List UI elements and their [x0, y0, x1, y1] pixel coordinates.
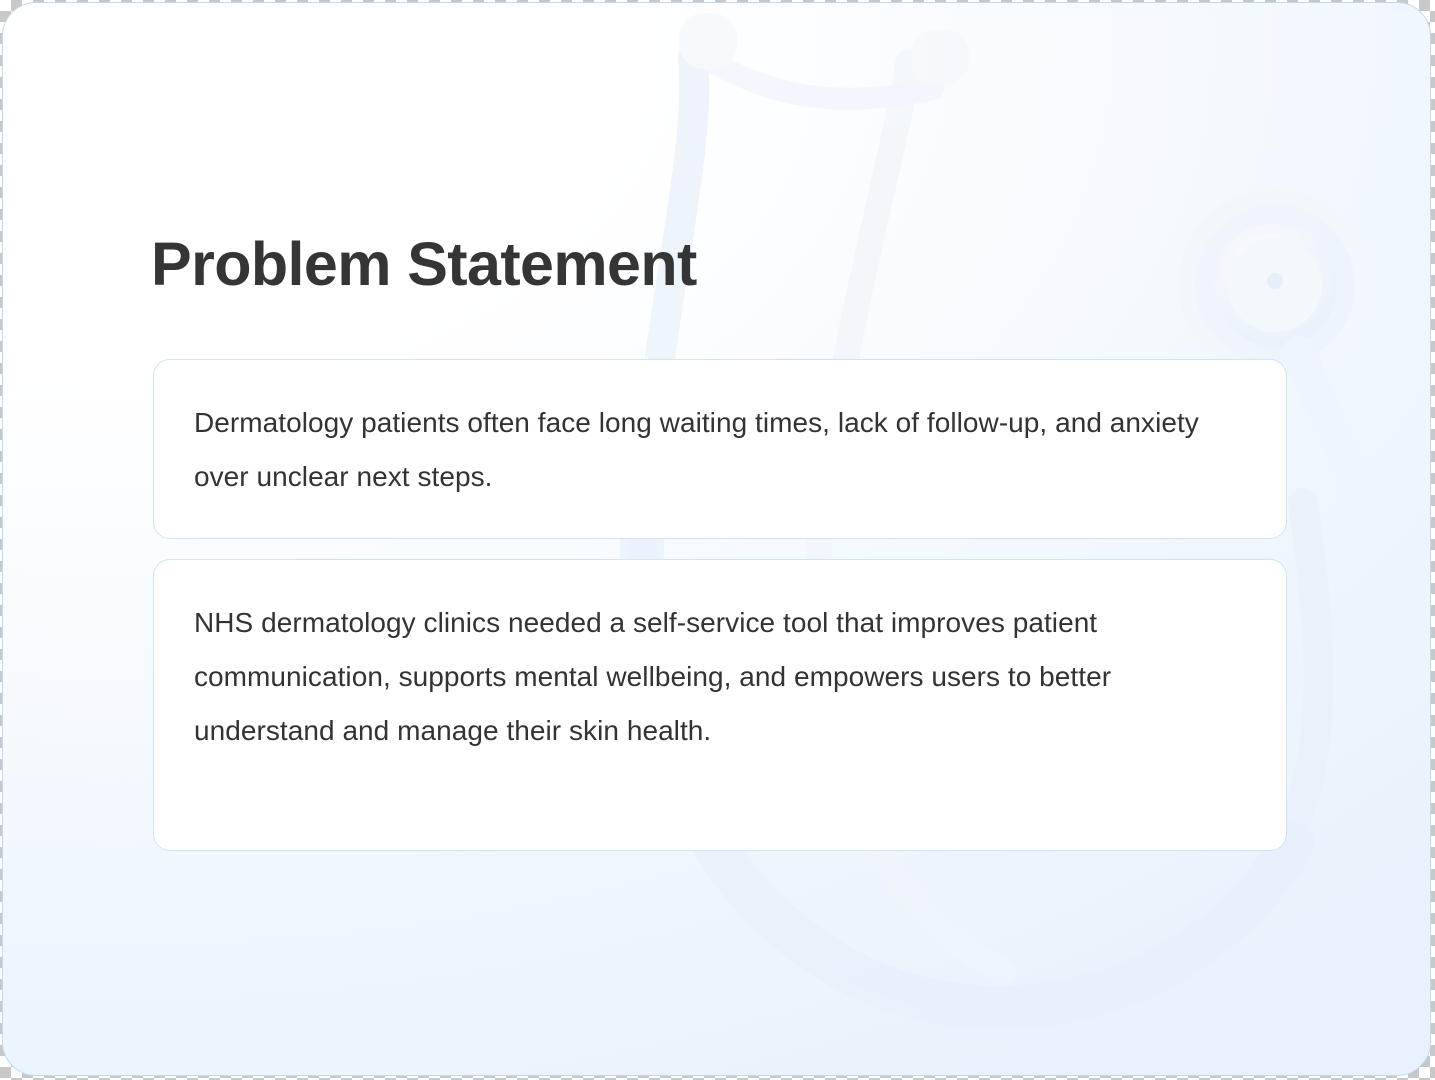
- slide-container: Problem Statement Dermatology patients o…: [2, 2, 1431, 1076]
- page-title: Problem Statement: [151, 234, 697, 295]
- problem-card-text: Dermatology patients often face long wai…: [194, 396, 1240, 504]
- problem-card: Dermatology patients often face long wai…: [153, 359, 1287, 539]
- slide-content: Problem Statement Dermatology patients o…: [3, 3, 1431, 1076]
- need-card-text: NHS dermatology clinics needed a self-se…: [194, 596, 1240, 758]
- need-card: NHS dermatology clinics needed a self-se…: [153, 559, 1287, 851]
